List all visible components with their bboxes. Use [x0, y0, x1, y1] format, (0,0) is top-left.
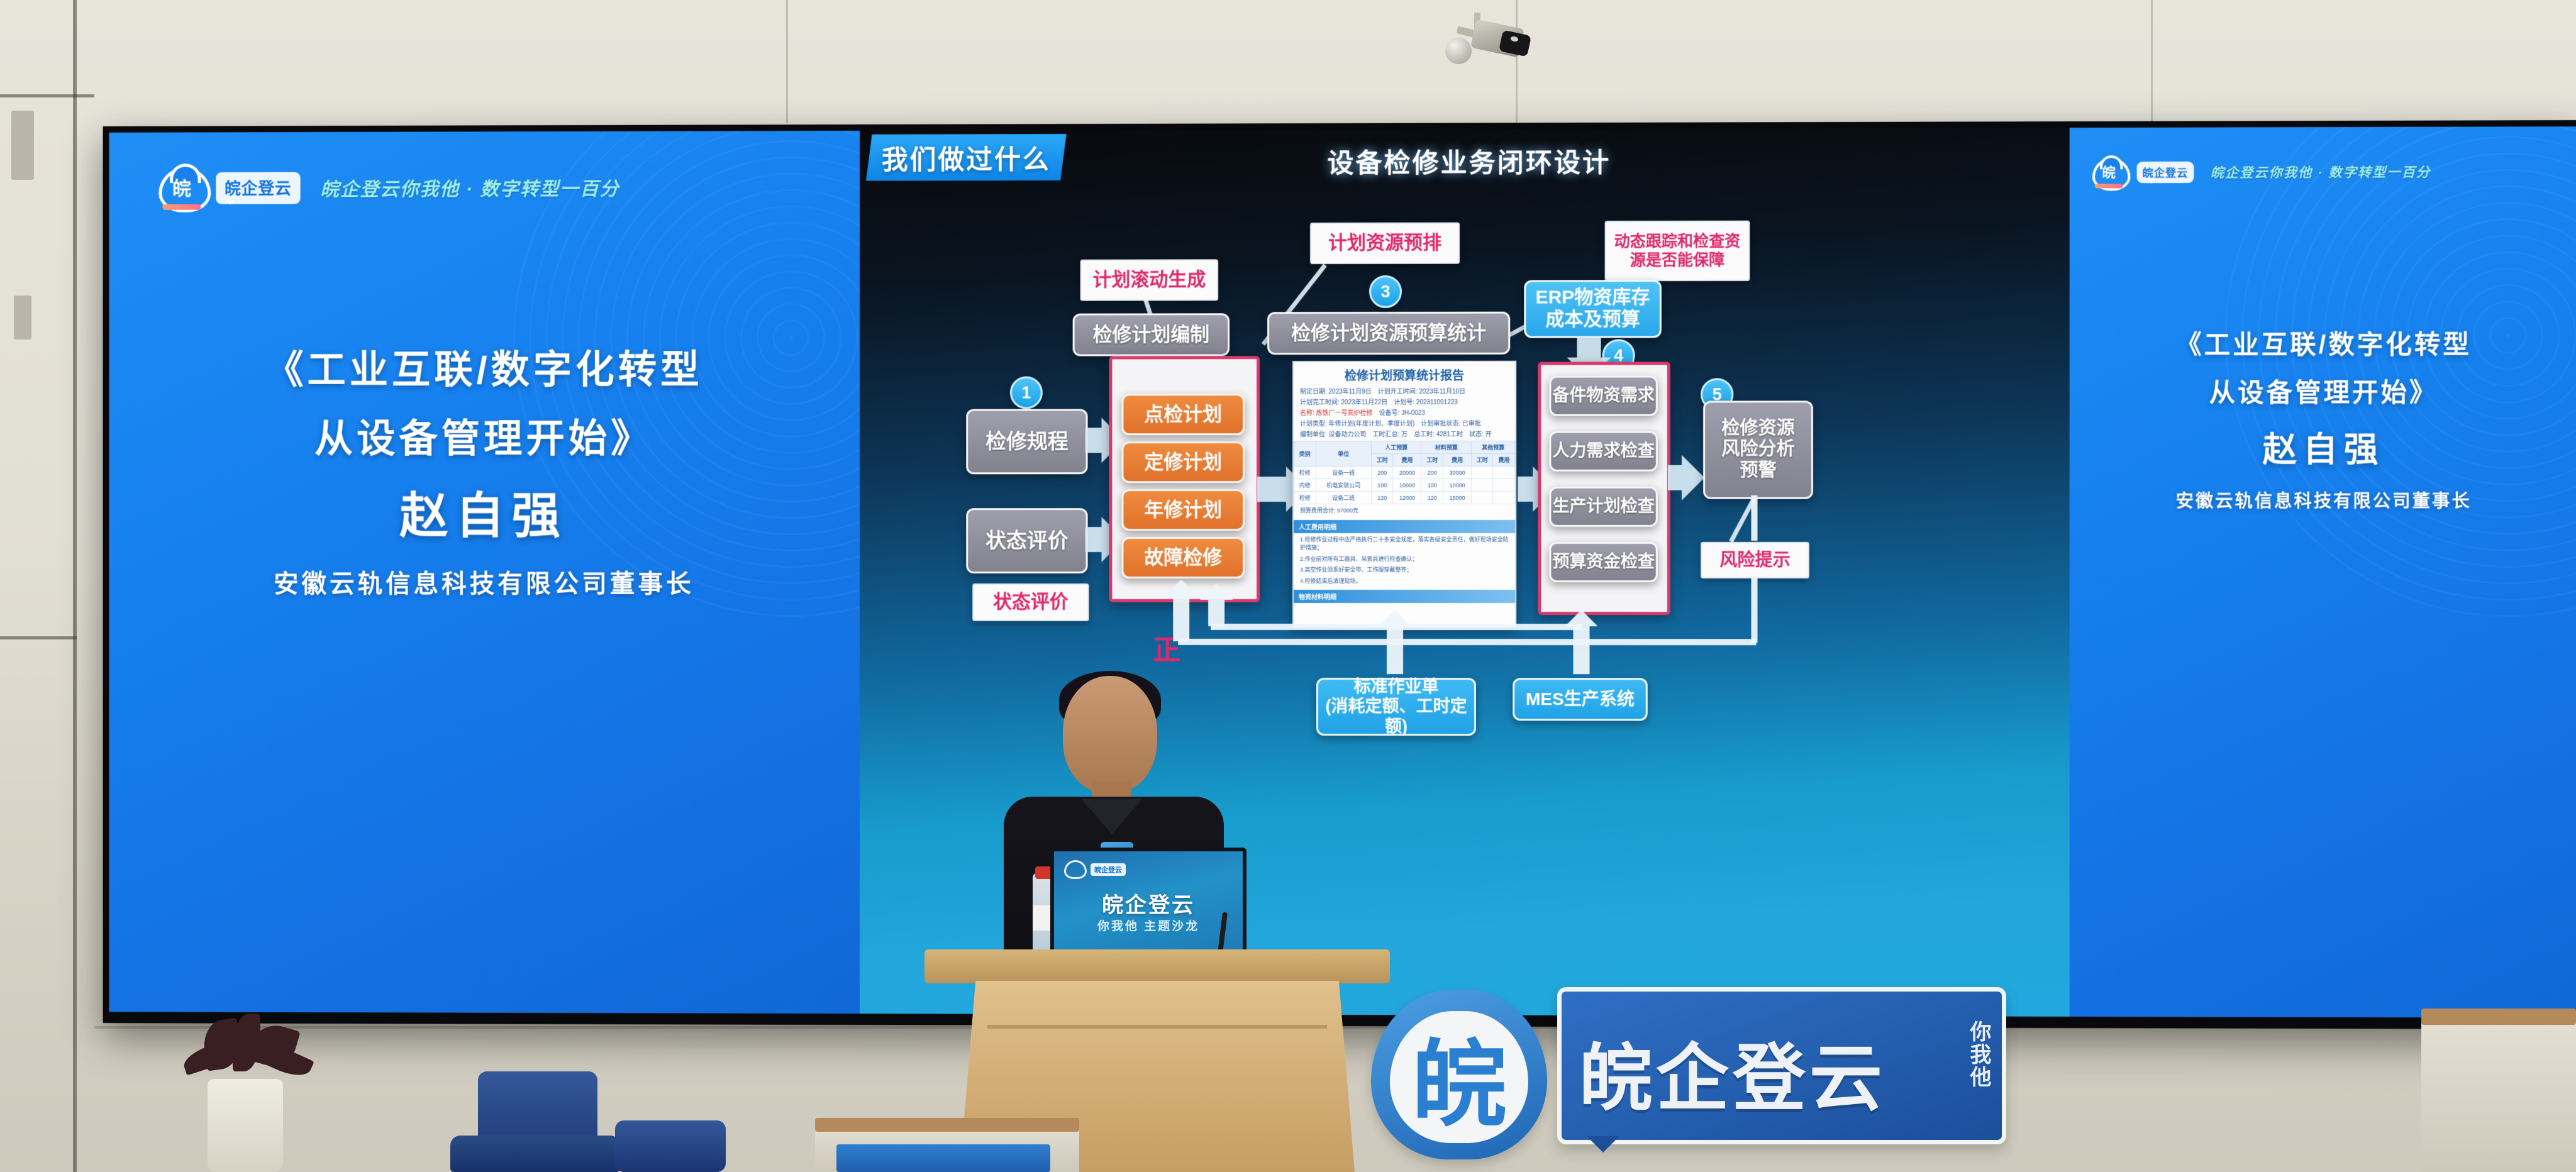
meta-item: 名称: 炼铁厂一号高炉检修 [1300, 407, 1373, 417]
wall-panel-line [2151, 0, 2153, 123]
cell [1493, 478, 1515, 491]
cell: 120 [1421, 491, 1443, 504]
screenshot-title: 检修计划预算统计报告 [1294, 362, 1515, 386]
left-title-line1: 《工业互联/数字化转型 [109, 338, 860, 395]
cloud-logo-icon [1064, 860, 1087, 879]
chair-backrest [615, 1120, 726, 1172]
flow-arrow-down [1577, 336, 1601, 363]
potted-plant-pot [208, 1079, 283, 1172]
cell [1493, 466, 1515, 478]
logo-glyph: 皖 [171, 179, 192, 200]
screenshot-band-2: 物资材料明细 [1294, 590, 1515, 603]
left-brand-lockup: 皖 皖企登云 皖企登云你我他 · 数字转型一百分 [158, 167, 619, 209]
meta-item: 总工时: 4281工时 [1414, 429, 1463, 438]
cell: 设备二班 [1316, 491, 1371, 504]
left-speaker-name: 赵自强 [109, 477, 860, 547]
flow-arrow [1085, 527, 1107, 552]
podium-seam [987, 1025, 1327, 1029]
check-item-2: 生产计划检查 [1549, 487, 1658, 527]
cell: 10000 [1443, 478, 1472, 491]
flow-line [1178, 639, 1756, 645]
security-camera-icon [1440, 13, 1528, 88]
screenshot-band-1: 人工费用明细 [1294, 519, 1515, 533]
plan-item-2: 年修计划 [1121, 489, 1245, 531]
presenter-head [1063, 676, 1157, 793]
right-title-panel: 皖 皖企登云 皖企登云你我他 · 数字转型一百分 《工业互联/数字化转型 从设备… [2070, 126, 2576, 1018]
step-badge-1: 1 [1010, 377, 1043, 409]
meta-item: 工时汇总: 万 [1373, 429, 1408, 438]
meta-item: 计划开工时间: 2023年11月10日 [1378, 386, 1465, 395]
brand-slogan: 皖企登云你我他 · 数字转型一百分 [2211, 162, 2431, 182]
brand-slogan: 皖企登云你我他 · 数字转型一百分 [320, 174, 619, 202]
node-erp-inventory: ERP物资库存 成本及预算 [1524, 280, 1662, 338]
flow-line [1211, 624, 1582, 630]
flow-arrow [1518, 477, 1538, 502]
cloud-logo-icon: 皖 [2092, 158, 2125, 187]
screenshot-note-2: 3.高空作业须系好安全带、工作服穿戴整齐； [1294, 566, 1515, 577]
callout-dynamic-tracking: 动态跟踪和检查资 源是否能保障 [1605, 221, 1750, 282]
callout-rolling-generation: 计划滚动生成 [1080, 259, 1219, 301]
podium-top [924, 949, 1390, 983]
left-title-panel: 皖 皖企登云 皖企登云你我他 · 数字转型一百分 《工业互联/数字化转型 从设备… [109, 131, 860, 1014]
flow-arrow [1668, 465, 1687, 490]
callout-resource-preschedule: 计划资源预排 [1310, 223, 1460, 264]
meta-item: 计划完工时间: 2023年11月22日 [1300, 397, 1387, 406]
cell: 10000 [1393, 478, 1421, 491]
cell: 机电安装公司 [1316, 478, 1371, 491]
floor-sign-cloud: 皖 [1371, 990, 1547, 1159]
right-brand-lockup: 皖 皖企登云 皖企登云你我他 · 数字转型一百分 [2092, 157, 2431, 187]
col-header: 工时 [1472, 453, 1494, 466]
flow-line [1751, 495, 1757, 541]
side-table-edge [2421, 1009, 2576, 1025]
screenshot-table: 类别 单位 人工预算 材料预算 其他预算 工时 费用 工时 费用 工时 费用 [1294, 441, 1515, 504]
col-group: 人工预算 [1371, 441, 1421, 453]
cell: 200 [1421, 466, 1443, 478]
cell [1472, 478, 1494, 491]
cell [1472, 466, 1494, 478]
table-row: 内修 机电安装公司 100 10000 100 10000 [1294, 478, 1515, 491]
col-header: 工时 [1421, 453, 1443, 466]
node-risk-analysis: 检修资源 风险分析 预警 [1703, 401, 1813, 499]
wall-seam [0, 636, 77, 639]
plan-item-3: 故障检修 [1121, 537, 1245, 578]
node-inspection-rules: 检修规程 [966, 409, 1087, 474]
meta-item: 计划类型: 年修计划(年度计划、季度计划) [1300, 418, 1414, 428]
callout-risk-prompt: 风险提示 [1701, 542, 1809, 578]
step-badge-3: 3 [1369, 275, 1402, 308]
left-speaker-org: 安徽云轨信息科技有限公司董事长 [109, 563, 860, 600]
conference-room-scene: 皖 皖企登云 皖企登云你我他 · 数字转型一百分 《工业互联/数字化转型 从设备… [0, 0, 2576, 1172]
meta-item: 编制单位: 设备动力公司 [1300, 429, 1367, 438]
cell [1493, 491, 1515, 504]
cell: 20000 [1393, 466, 1421, 478]
callout-status-evaluation: 状态评价 [972, 583, 1089, 621]
logo-glyph: 皖 [2101, 165, 2117, 181]
right-speaker-org: 安徽云轨信息科技有限公司董事长 [2070, 487, 2576, 513]
node-mes-system: MES生产系统 [1513, 678, 1648, 721]
floor-sign-side-text: 你我他 [1967, 1020, 1989, 1088]
col-header: 类别 [1294, 441, 1316, 467]
flow-arrow-up [1173, 596, 1189, 641]
floor-sign-main-text: 皖企登云 [1579, 1019, 1886, 1125]
front-desk-edge [815, 1118, 1079, 1132]
software-screenshot: 检修计划预算统计报告 制定日期: 2023年11月9日 计划开工时间: 2023… [1292, 361, 1516, 627]
meta-item: 计划号: 202311091223 [1394, 397, 1458, 406]
check-item-1: 人力需求检查 [1549, 431, 1658, 472]
slide-title: 设备检修业务闭环设计 [860, 140, 2082, 182]
podium-laptop-screen: 皖企登云 皖企登云 你我他 主题沙龙 [1050, 848, 1246, 962]
col-header: 单位 [1316, 441, 1371, 466]
side-table [2421, 1014, 2576, 1172]
flow-arrow-up [1573, 626, 1589, 674]
screenshot-note-1: 2.作业前对所有工器具、吊索具进行检查确认； [1294, 555, 1515, 566]
screenshot-meta: 制定日期: 2023年11月9日 计划开工时间: 2023年11月10日 计划完… [1294, 386, 1515, 441]
plan-item-1: 定修计划 [1121, 441, 1245, 483]
chair [450, 1136, 620, 1172]
screenshot-note-0: 1.检修作业过程中应严格执行二十条安全规定，落实各级安全责任，做好现场安全防护措… [1294, 533, 1515, 555]
cloud-logo-icon: 皖 [158, 167, 204, 209]
meta-item: 制定日期: 2023年11月9日 [1300, 386, 1372, 395]
cell: 15000 [1443, 491, 1472, 504]
table-row: 检修 设备一班 200 20000 200 30000 [1294, 466, 1515, 478]
cell: 12000 [1393, 491, 1421, 504]
floor-sign-glyph: 皖 [1371, 1037, 1547, 1132]
cell: 200 [1371, 466, 1393, 478]
led-video-wall: 皖 皖企登云 皖企登云你我他 · 数字转型一百分 《工业互联/数字化转型 从设备… [103, 120, 2576, 1029]
wall-seam [73, 0, 77, 1172]
node-standard-work-order: 标准作业单 (消耗定额、工时定额) [1316, 678, 1476, 736]
laptop-brand-chip: 皖企登云 [1091, 863, 1126, 876]
flow-arrow [1085, 428, 1107, 453]
cell: 120 [1371, 491, 1393, 504]
floor-brand-sign: 皖 皖企登云 你我他 [1371, 981, 2038, 1169]
col-header: 费用 [1443, 453, 1472, 466]
meta-item: 计划审批状态: 已审批 [1421, 418, 1481, 428]
node-plan-budget-stats: 检修计划资源预算统计 [1267, 312, 1510, 355]
wall-fixture [14, 296, 31, 340]
screenshot-footer-note: 预算费用合计: 97000元 [1294, 504, 1515, 518]
col-header: 费用 [1493, 453, 1515, 466]
cell: 30000 [1443, 466, 1472, 478]
meta-item: 状态: 开 [1469, 429, 1492, 438]
col-group: 其他预算 [1472, 441, 1515, 453]
cell: 内修 [1294, 479, 1316, 492]
plan-item-0: 点检计划 [1121, 394, 1245, 435]
wall-panel-line [786, 0, 788, 123]
check-item-3: 预算资金检查 [1549, 542, 1658, 582]
laptop-sub-text: 你我他 主题沙龙 [1054, 917, 1243, 934]
cell: 设备一班 [1316, 466, 1371, 478]
cell [1472, 491, 1494, 504]
flow-arrow-up [1208, 600, 1224, 626]
brand-chip: 皖企登云 [216, 172, 300, 204]
wall-fixture [11, 111, 34, 180]
flow-arrow [1257, 477, 1291, 502]
node-status-evaluation: 状态评价 [966, 508, 1087, 573]
cell: 检修 [1294, 492, 1316, 504]
meta-item: 设备号: JH-0023 [1379, 407, 1425, 417]
right-title-line1: 《工业互联/数字化转型 [2070, 323, 2576, 361]
right-speaker-name: 赵自强 [2070, 421, 2576, 472]
brand-chip: 皖企登云 [2137, 162, 2194, 183]
wall-seam [0, 94, 94, 97]
check-item-0: 备件物资需求 [1549, 375, 1658, 416]
flow-line [1751, 576, 1757, 643]
cell: 检修 [1294, 467, 1316, 479]
laptop-main-text: 皖企登云 [1054, 888, 1243, 919]
table-row: 检修 设备二班 120 12000 120 15000 [1294, 491, 1515, 504]
col-header: 工时 [1371, 453, 1393, 466]
front-desk-panel [836, 1144, 1050, 1172]
floor-sign-plate: 皖企登云 你我他 [1557, 987, 2006, 1144]
flow-arrow-up [1387, 626, 1403, 674]
col-group: 材料预算 [1421, 441, 1472, 453]
screenshot-note-3: 4.检修结束后清理现场。 [1294, 577, 1515, 588]
right-title-line2: 从设备管理开始》 [2070, 371, 2576, 409]
left-title-line2: 从设备管理开始》 [109, 407, 860, 464]
col-header: 费用 [1393, 453, 1421, 466]
laptop-logo: 皖企登云 [1064, 860, 1126, 879]
node-plan-preparation: 检修计划编制 [1073, 313, 1230, 356]
cell: 100 [1371, 478, 1393, 491]
cell: 100 [1421, 478, 1443, 491]
